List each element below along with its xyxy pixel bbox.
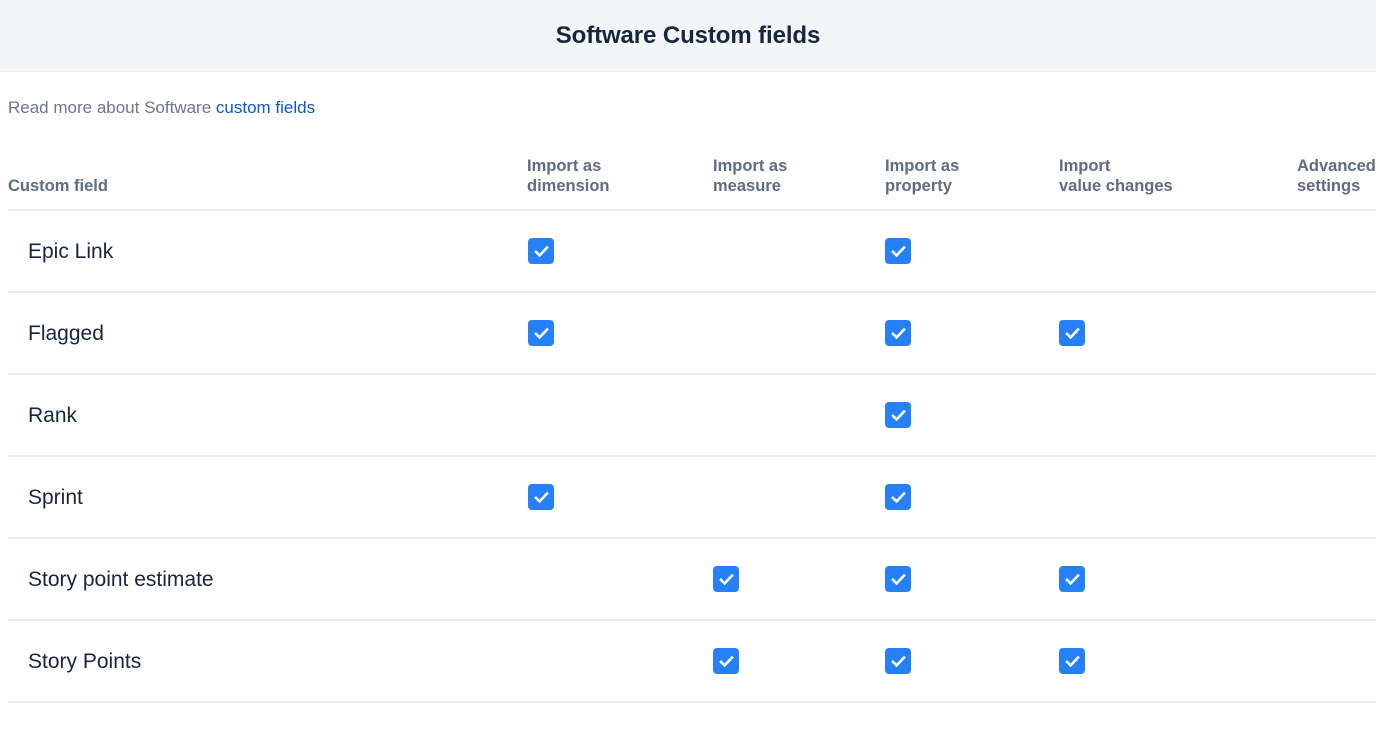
table-row: Epic Link (8, 210, 1376, 292)
checkbox-empty-adv (1298, 318, 1324, 344)
cell-val (1059, 374, 1297, 456)
cell-val (1059, 456, 1297, 538)
column-header-line-1: Advanced (1297, 157, 1376, 177)
cell-adv (1297, 210, 1376, 292)
checkbox-empty-meas (713, 236, 739, 262)
cell-adv (1297, 620, 1376, 702)
checkbox-empty-val (1059, 482, 1085, 508)
table-row: Story Points (8, 620, 1376, 702)
column-header-line-1: Import as (885, 157, 1059, 177)
custom-field-label: Rank (8, 403, 527, 428)
column-header-line-1: Import (1059, 157, 1297, 177)
table-row: Rank (8, 374, 1376, 456)
cell-custom-field-name: Flagged (8, 292, 527, 374)
checkbox-empty-adv (1298, 564, 1324, 590)
column-header-line-1: Import as (713, 157, 885, 177)
checkbox-checked-val[interactable] (1059, 566, 1085, 592)
column-header-line-1: Import as (527, 157, 713, 177)
cell-dim (527, 456, 713, 538)
table-header-row: Custom field Import as dimension Import … (8, 140, 1376, 210)
table-row: Flagged (8, 292, 1376, 374)
cell-val (1059, 292, 1297, 374)
custom-field-label: Epic Link (8, 239, 527, 264)
checkbox-empty-meas (713, 400, 739, 426)
custom-fields-table: Custom field Import as dimension Import … (8, 140, 1376, 703)
table-body: Epic LinkFlaggedRankSprintStory point es… (8, 210, 1376, 702)
cell-adv (1297, 538, 1376, 620)
custom-field-label: Story point estimate (8, 567, 527, 592)
cell-val (1059, 210, 1297, 292)
cell-prop (885, 374, 1059, 456)
custom-field-label: Flagged (8, 321, 527, 346)
checkbox-checked-val[interactable] (1059, 320, 1085, 346)
cell-adv (1297, 292, 1376, 374)
intro-text: Read more about Software (8, 98, 216, 117)
column-header-import-as-measure: Import as measure (713, 140, 885, 210)
custom-field-label: Sprint (8, 485, 527, 510)
cell-prop (885, 620, 1059, 702)
cell-custom-field-name: Story Points (8, 620, 527, 702)
column-header-import-value-changes: Import value changes (1059, 140, 1297, 210)
column-header-import-as-dimension: Import as dimension (527, 140, 713, 210)
custom-fields-table-wrapper: Custom field Import as dimension Import … (0, 140, 1376, 703)
cell-dim (527, 210, 713, 292)
checkbox-empty-val (1059, 236, 1085, 262)
checkbox-empty-meas (713, 482, 739, 508)
checkbox-checked-prop[interactable] (885, 320, 911, 346)
cell-custom-field-name: Rank (8, 374, 527, 456)
cell-meas (713, 374, 885, 456)
checkbox-empty-adv (1298, 400, 1324, 426)
checkbox-checked-prop[interactable] (885, 402, 911, 428)
cell-custom-field-name: Story point estimate (8, 538, 527, 620)
checkbox-checked-dim[interactable] (528, 320, 554, 346)
column-header-line-2: dimension (527, 177, 713, 197)
column-header-import-as-property: Import as property (885, 140, 1059, 210)
cell-prop (885, 456, 1059, 538)
column-header-advanced-settings: Advanced settings (1297, 140, 1376, 210)
column-header-line-2: measure (713, 177, 885, 197)
cell-adv (1297, 374, 1376, 456)
cell-meas (713, 210, 885, 292)
column-header-line-2: settings (1297, 177, 1376, 197)
checkbox-checked-val[interactable] (1059, 648, 1085, 674)
cell-val (1059, 620, 1297, 702)
cell-prop (885, 538, 1059, 620)
checkbox-checked-dim[interactable] (528, 484, 554, 510)
checkbox-checked-meas[interactable] (713, 648, 739, 674)
checkbox-checked-prop[interactable] (885, 566, 911, 592)
checkbox-empty-val (1059, 400, 1085, 426)
checkbox-checked-prop[interactable] (885, 484, 911, 510)
page-title: Software Custom fields (556, 22, 821, 50)
checkbox-empty-dim (528, 646, 554, 672)
cell-custom-field-name: Sprint (8, 456, 527, 538)
column-header-line-2: property (885, 177, 1059, 197)
cell-adv (1297, 456, 1376, 538)
checkbox-checked-dim[interactable] (528, 238, 554, 264)
checkbox-checked-meas[interactable] (713, 566, 739, 592)
custom-field-label: Story Points (8, 649, 527, 674)
checkbox-empty-dim (528, 400, 554, 426)
window-titlebar: Software Custom fields (0, 0, 1376, 72)
cell-prop (885, 210, 1059, 292)
intro-paragraph: Read more about Software custom fields (0, 72, 1376, 118)
table-row: Story point estimate (8, 538, 1376, 620)
table-head: Custom field Import as dimension Import … (8, 140, 1376, 210)
column-header-custom-field: Custom field (8, 140, 527, 210)
cell-prop (885, 292, 1059, 374)
column-header-line-1: Custom field (8, 177, 527, 197)
checkbox-empty-meas (713, 318, 739, 344)
checkbox-empty-dim (528, 564, 554, 590)
checkbox-empty-adv (1298, 646, 1324, 672)
cell-meas (713, 456, 885, 538)
custom-fields-link[interactable]: custom fields (216, 98, 315, 117)
cell-meas (713, 292, 885, 374)
checkbox-checked-prop[interactable] (885, 648, 911, 674)
cell-val (1059, 538, 1297, 620)
cell-dim (527, 292, 713, 374)
cell-meas (713, 620, 885, 702)
checkbox-empty-adv (1298, 482, 1324, 508)
checkbox-checked-prop[interactable] (885, 238, 911, 264)
table-row: Sprint (8, 456, 1376, 538)
column-header-line-2: value changes (1059, 177, 1297, 197)
checkbox-empty-adv (1298, 236, 1324, 262)
cell-dim (527, 538, 713, 620)
cell-custom-field-name: Epic Link (8, 210, 527, 292)
cell-dim (527, 620, 713, 702)
cell-meas (713, 538, 885, 620)
cell-dim (527, 374, 713, 456)
